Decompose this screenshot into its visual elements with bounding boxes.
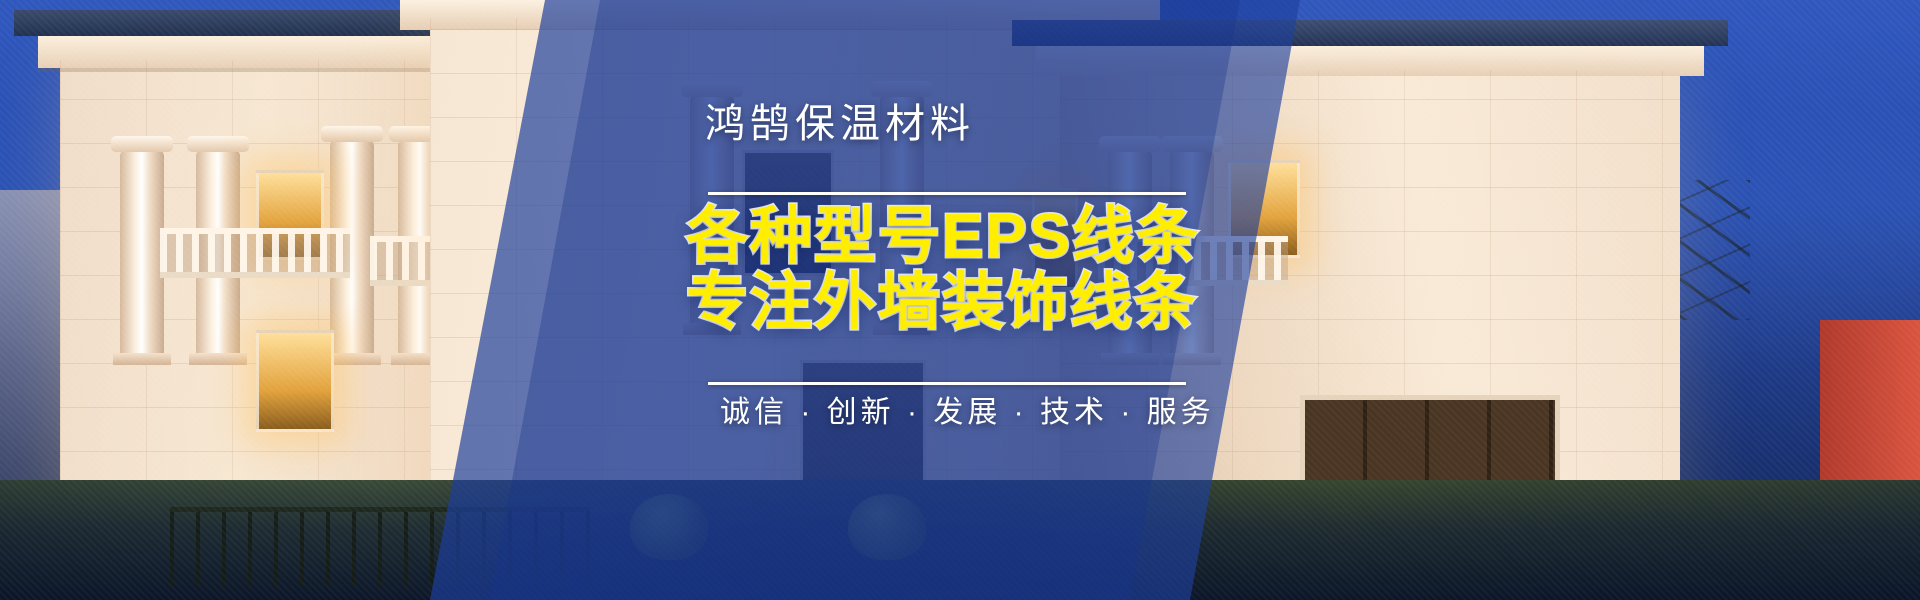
divider-line-top	[708, 192, 1186, 195]
tagline-slogan: 诚信 · 创新 · 发展 · 技术 · 服务	[720, 398, 1215, 428]
hero-banner: 鸿鹄保温材料 各种型号EPS线条 专注外墙装饰线条 诚信 · 创新 · 发展 ·…	[0, 0, 1920, 600]
headline-line-1: 各种型号EPS线条	[686, 206, 1200, 268]
divider-line-bottom	[708, 382, 1186, 385]
headline-line-2: 专注外墙装饰线条	[686, 272, 1198, 334]
banner-text-block: 鸿鹄保温材料 各种型号EPS线条 专注外墙装饰线条 诚信 · 创新 · 发展 ·…	[0, 0, 1920, 600]
brand-title: 鸿鹄保温材料	[705, 104, 975, 144]
